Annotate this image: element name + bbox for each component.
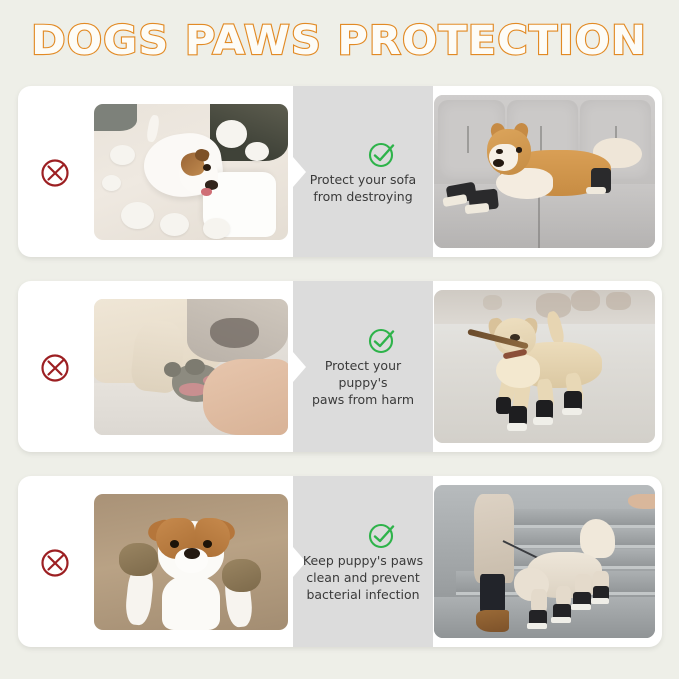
- check-circle-icon: [367, 520, 397, 550]
- before-photo-3: [94, 494, 288, 630]
- check-circle-icon: [367, 139, 397, 169]
- cross-circle-icon: [39, 350, 73, 384]
- caption-text-3: Keep puppy's paws clean and prevent bact…: [303, 552, 423, 603]
- infographic-page: DOGS PAWS PROTECTION: [0, 0, 679, 679]
- after-photo-2: [434, 290, 655, 443]
- page-title-text: DOGS PAWS PROTECTION: [32, 18, 648, 64]
- message-band-2: Protect your puppy's paws from harm: [293, 281, 433, 452]
- before-photo-2: [94, 299, 288, 435]
- message-band-1: Protect your sofa from destroying: [293, 86, 433, 257]
- cross-circle-icon: [39, 545, 73, 579]
- cross-icon-cell-3: [18, 476, 94, 647]
- cross-circle-icon: [39, 155, 73, 189]
- before-photo-1: [94, 104, 288, 240]
- benefit-card-1: Protect your sofa from destroying: [18, 86, 662, 257]
- page-title: DOGS PAWS PROTECTION: [0, 18, 679, 64]
- after-photo-1: [434, 95, 655, 248]
- caption-text-2: Protect your puppy's paws from harm: [299, 357, 427, 408]
- benefit-card-3: Keep puppy's paws clean and prevent bact…: [18, 476, 662, 647]
- message-band-3: Keep puppy's paws clean and prevent bact…: [293, 476, 433, 647]
- check-circle-icon: [367, 325, 397, 355]
- cross-icon-cell-2: [18, 281, 94, 452]
- caption-text-1: Protect your sofa from destroying: [310, 171, 416, 205]
- benefit-card-2: Protect your puppy's paws from harm: [18, 281, 662, 452]
- cross-icon-cell-1: [18, 86, 94, 257]
- after-photo-3: [434, 485, 655, 638]
